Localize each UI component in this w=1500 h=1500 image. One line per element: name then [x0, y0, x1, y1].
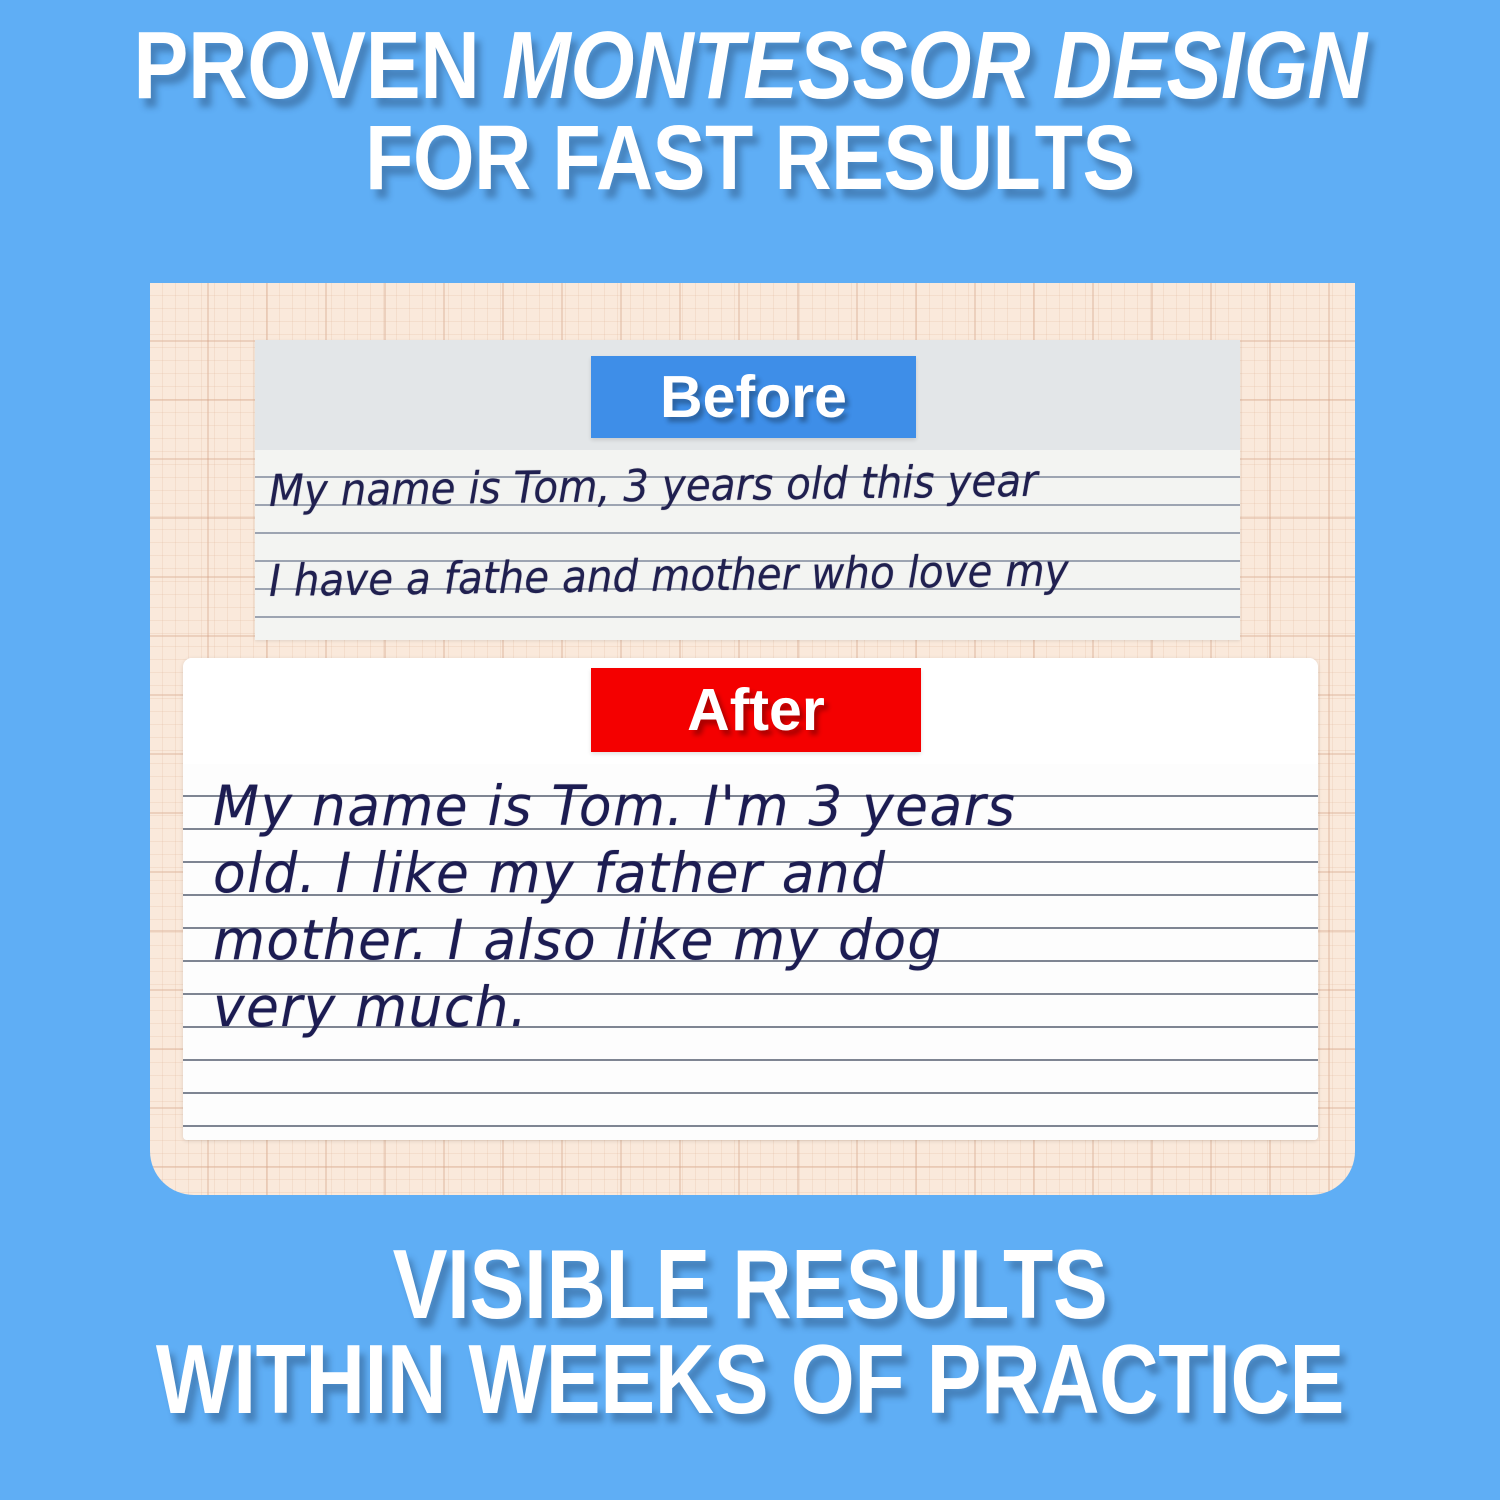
headline-top-line1-emphasis: MONTESSOR DESIGN [502, 12, 1367, 119]
headline-bottom: VISIBLE RESULTS WITHIN WEEKS OF PRACTICE [0, 1238, 1500, 1426]
after-panel-header: After [183, 658, 1318, 764]
after-badge: After [591, 668, 921, 752]
after-handwriting-line-1: My name is Tom. I'm 3 years [213, 774, 1270, 838]
after-panel: After My name is Tom. I'm 3 years old. I… [183, 658, 1318, 1140]
before-panel: Before My name is Tom, 3 years old this … [255, 340, 1240, 640]
headline-top-line1-prefix: PROVEN [133, 12, 502, 119]
after-handwriting-line-4: very much. [213, 975, 1270, 1039]
before-badge: Before [591, 356, 916, 438]
comparison-card: Before My name is Tom, 3 years old this … [150, 283, 1355, 1195]
after-handwriting-line-2: old. I like my father and [213, 841, 1270, 905]
headline-top: PROVEN MONTESSOR DESIGN FOR FAST RESULTS [0, 20, 1500, 203]
before-handwriting-paper: My name is Tom, 3 years old this year I … [255, 450, 1240, 640]
headline-bottom-line2: WITHIN WEEKS OF PRACTICE [120, 1333, 1380, 1426]
before-handwriting-line-2: I have a fathe and mother who love my [269, 544, 1153, 607]
promo-image-root: PROVEN MONTESSOR DESIGN FOR FAST RESULTS… [0, 0, 1500, 1500]
headline-top-line1: PROVEN MONTESSOR DESIGN [105, 20, 1395, 111]
after-handwriting-line-3: mother. I also like my dog [213, 908, 1270, 972]
before-handwriting-line-1: My name is Tom, 3 years old this year [269, 454, 1153, 517]
before-panel-header: Before [255, 340, 1240, 450]
headline-bottom-line1: VISIBLE RESULTS [120, 1238, 1380, 1331]
after-handwriting-paper: My name is Tom. I'm 3 years old. I like … [183, 764, 1318, 1140]
headline-top-line2: FOR FAST RESULTS [105, 115, 1395, 202]
